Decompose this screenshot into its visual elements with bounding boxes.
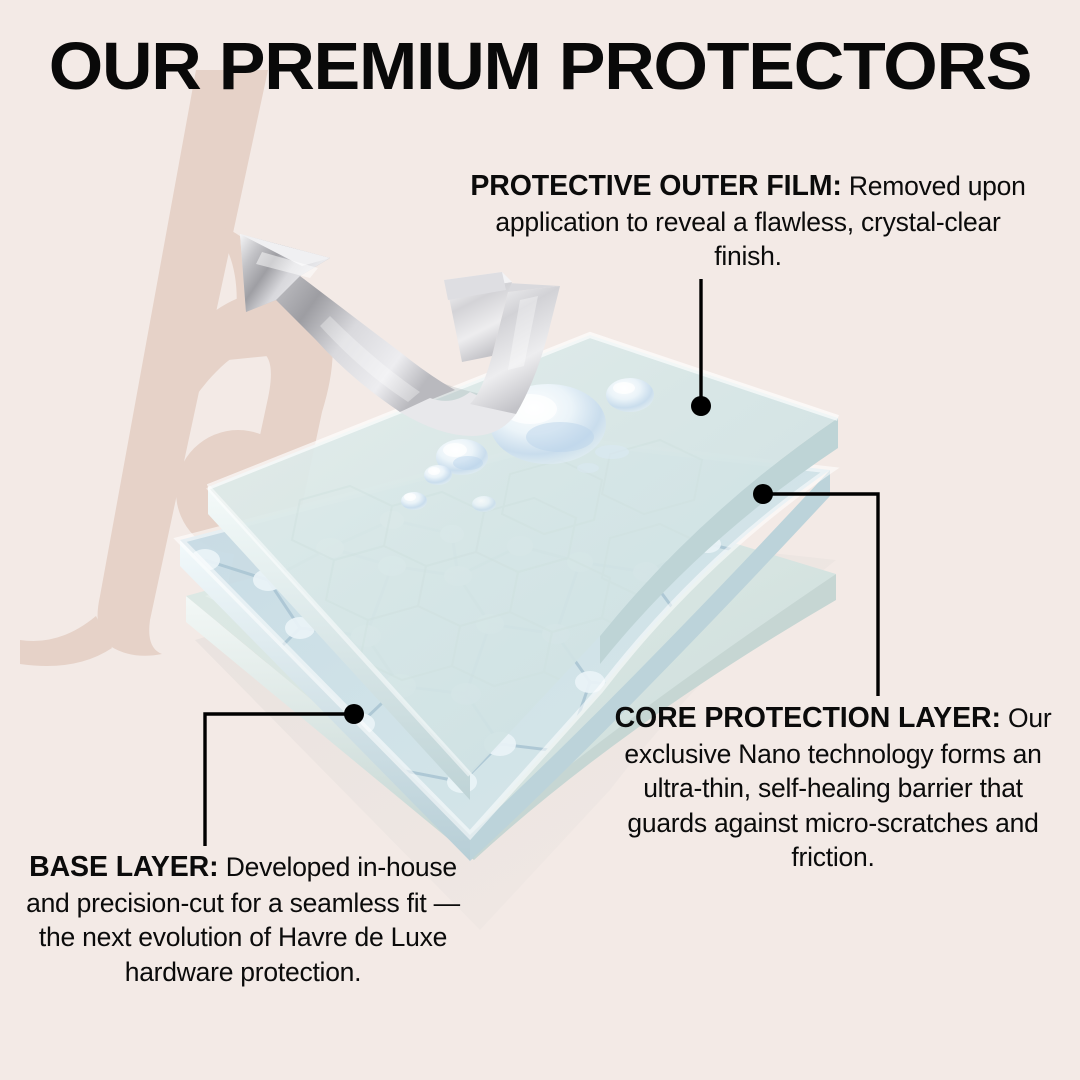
brand-watermark-h-icon (0, 60, 420, 680)
callout-outer-film-label: PROTECTIVE OUTER FILM: (470, 170, 841, 202)
marker-dot-core-layer (753, 484, 773, 504)
glass-texture (292, 440, 702, 692)
water-droplets (401, 360, 654, 512)
leader-line-core-layer (770, 494, 878, 696)
callout-core-layer: CORE PROTECTION LAYER: Our exclusive Nan… (602, 700, 1064, 875)
callout-outer-film: PROTECTIVE OUTER FILM: Removed upon appl… (470, 168, 1026, 274)
callout-base-layer: BASE LAYER: Developed in-house and preci… (12, 849, 474, 989)
poster-canvas: OUR PREMIUM PROTECTORS (0, 0, 1080, 1080)
callout-core-layer-label: CORE PROTECTION LAYER: (615, 702, 1001, 734)
leader-line-base-layer (205, 714, 347, 846)
page-title: OUR PREMIUM PROTECTORS (0, 33, 1080, 100)
callout-base-layer-label: BASE LAYER: (29, 851, 218, 883)
marker-dot-outer-film (691, 396, 711, 416)
marker-dot-base-layer (344, 704, 364, 724)
